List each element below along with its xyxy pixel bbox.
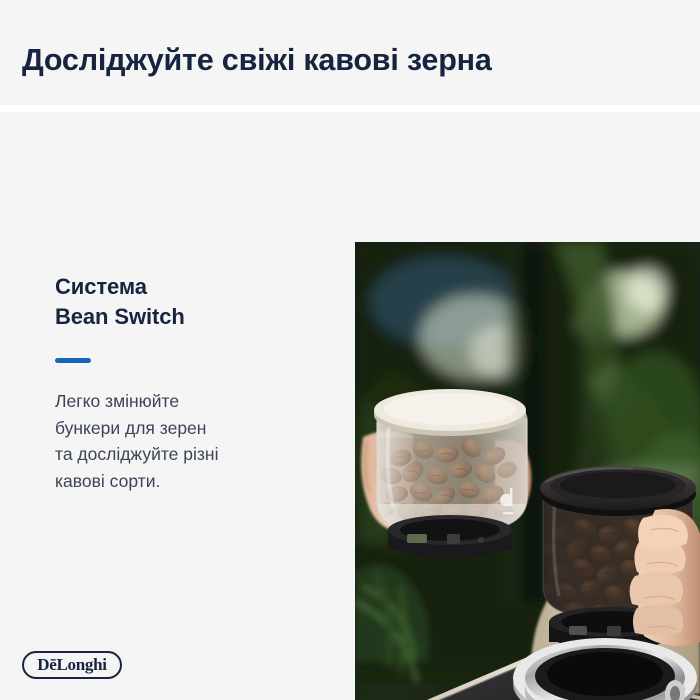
feature-description: Легко змінюйте бункери для зерен та досл… bbox=[55, 388, 305, 494]
promo-card: Досліджуйте свіжі кавові зерна Система B… bbox=[0, 0, 700, 700]
accent-divider bbox=[55, 358, 91, 363]
page-title: Досліджуйте свіжі кавові зерна bbox=[22, 40, 492, 80]
feature-title: Система Bean Switch bbox=[55, 272, 305, 332]
header-divider bbox=[0, 105, 700, 112]
header-bar: Досліджуйте свіжі кавові зерна bbox=[0, 0, 700, 105]
light-hopper-base bbox=[388, 515, 512, 558]
product-photo-illustration: ✕ bbox=[355, 242, 700, 700]
delonghi-logo-text: DēLonghi bbox=[37, 656, 106, 673]
right-hand bbox=[630, 509, 700, 646]
feature-text-block: Система Bean Switch Легко змінюйте бунке… bbox=[55, 272, 305, 494]
product-photo: ✕ bbox=[355, 242, 700, 700]
delonghi-logo: DēLonghi bbox=[22, 651, 122, 679]
content-area: Система Bean Switch Легко змінюйте бунке… bbox=[0, 112, 700, 700]
